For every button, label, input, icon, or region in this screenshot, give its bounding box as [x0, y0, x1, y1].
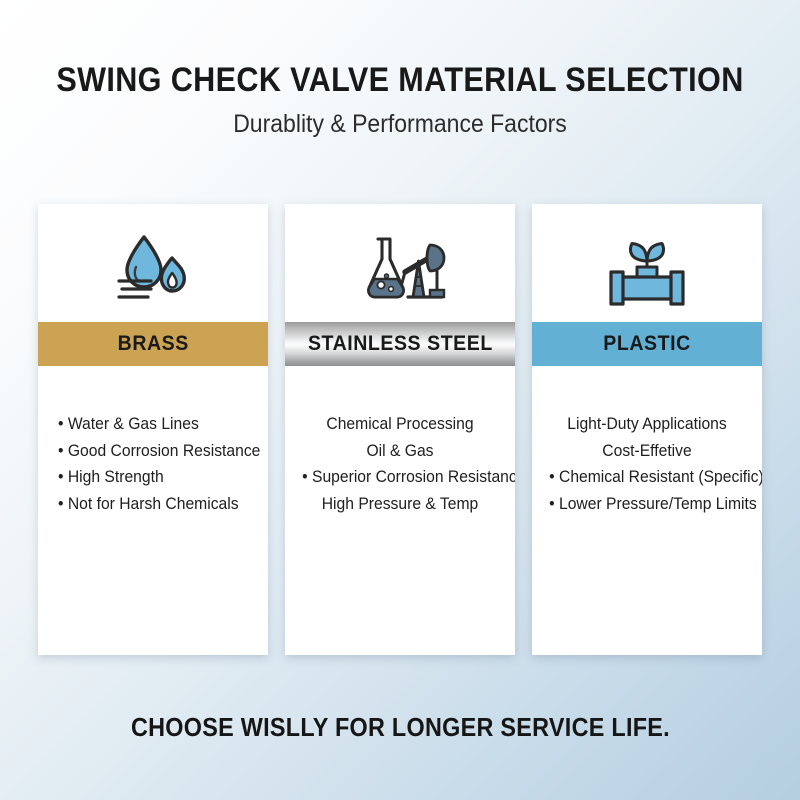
feature-list-stainless-steel: Chemical Processing Oil & Gas • Superior…: [285, 411, 515, 518]
material-card-brass[interactable]: BRASS • Water & Gas Lines • Good Corrosi…: [38, 204, 268, 655]
feature-item: High Pressure & Temp: [302, 491, 498, 518]
page-footer: CHOOSE WISLLY FOR LONGER SERVICE LIFE.: [0, 655, 800, 800]
card-title-brass: BRASS: [117, 332, 188, 356]
pipe-with-leaf-icon: [532, 204, 762, 322]
feature-item: Light-Duty Applications: [549, 411, 745, 438]
card-banner-brass: BRASS: [38, 322, 268, 366]
card-title-plastic: PLASTIC: [603, 332, 690, 356]
feature-item: • Water & Gas Lines: [58, 411, 246, 438]
feature-item: • High Strength: [58, 464, 246, 491]
feature-item: • Not for Harsh Chemicals: [58, 491, 246, 518]
feature-item: • Chemical Resistant (Specific): [549, 464, 745, 491]
flask-oil-pumpjack-icon: [285, 204, 515, 322]
feature-item: • Superior Corrosion Resistance: [302, 464, 498, 491]
feature-item: • Good Corrosion Resistance: [58, 438, 246, 465]
card-banner-plastic: PLASTIC: [532, 322, 762, 366]
feature-item: Oil & Gas: [302, 438, 498, 465]
page-subtitle: Durablity & Performance Factors: [32, 110, 768, 139]
material-card-list: BRASS • Water & Gas Lines • Good Corrosi…: [38, 204, 762, 655]
feature-list-plastic: Light-Duty Applications Cost-Effetive • …: [532, 411, 762, 518]
feature-list-brass: • Water & Gas Lines • Good Corrosion Res…: [38, 411, 268, 518]
footer-tagline: CHOOSE WISLLY FOR LONGER SERVICE LIFE.: [130, 712, 669, 743]
material-card-plastic[interactable]: PLASTIC Light-Duty Applications Cost-Eff…: [532, 204, 762, 655]
feature-item: • Lower Pressure/Temp Limits: [549, 491, 745, 518]
page-title: SWING CHECK VALVE MATERIAL SELECTION: [40, 62, 760, 98]
material-card-stainless-steel[interactable]: STAINLESS STEEL Chemical Processing Oil …: [285, 204, 515, 655]
feature-item: Cost-Effetive: [549, 438, 745, 465]
card-banner-stainless-steel: STAINLESS STEEL: [285, 322, 515, 366]
water-drop-flame-icon: [38, 204, 268, 322]
infographic-page: { "header": { "title": "SWING CHECK VALV…: [0, 0, 800, 800]
card-title-stainless-steel: STAINLESS STEEL: [308, 332, 493, 356]
page-header: SWING CHECK VALVE MATERIAL SELECTION Dur…: [0, 0, 800, 139]
feature-item: Chemical Processing: [302, 411, 498, 438]
